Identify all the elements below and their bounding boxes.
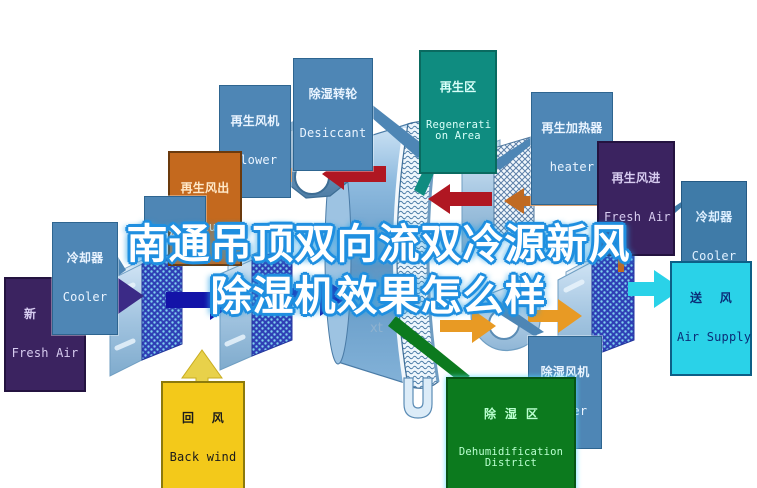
label-back-wind: 回 风 Back wind [161,381,245,488]
label-regen-blower-cn: 再生风机 [225,115,285,128]
label-dehum-district-cn: 除 湿 区 [453,408,569,421]
svg-text:xt: xt [370,321,383,336]
label-exhaust-cn: 再生风出 [175,182,235,195]
label-regen-area-en: Regenerati on Area [426,120,490,143]
title-line-1: 南通吊顶双向流双冷源新风 [0,218,757,270]
title-line-2: 除湿机效果怎么样 [0,270,757,322]
label-back-wind-cn: 回 风 [168,412,238,425]
label-desiccant-en: Desiccant [299,127,367,140]
label-regen-fresh-air-cn: 再生风进 [604,172,668,185]
label-air-supply-en: Air Supply [677,331,745,344]
label-dehum-district: 除 湿 区 Dehumidification District [446,377,576,488]
label-desiccant-cn: 除湿转轮 [299,88,367,101]
label-regen-area-cn: 再生区 [426,81,490,94]
label-regen-area: 再生区 Regenerati on Area [419,50,497,174]
label-regen-heater-cn: 再生加热器 [537,122,607,135]
label-fresh-air-en: Fresh Air [11,347,79,360]
label-back-wind-en: Back wind [168,451,238,464]
dehumidifier-system-diagram: xt [0,0,757,488]
label-dehum-district-en: Dehumidification District [453,447,569,470]
title-overlay: 南通吊顶双向流双冷源新风 除湿机效果怎么样 [0,218,757,322]
label-desiccant: 除湿转轮 Desiccant [293,58,373,171]
